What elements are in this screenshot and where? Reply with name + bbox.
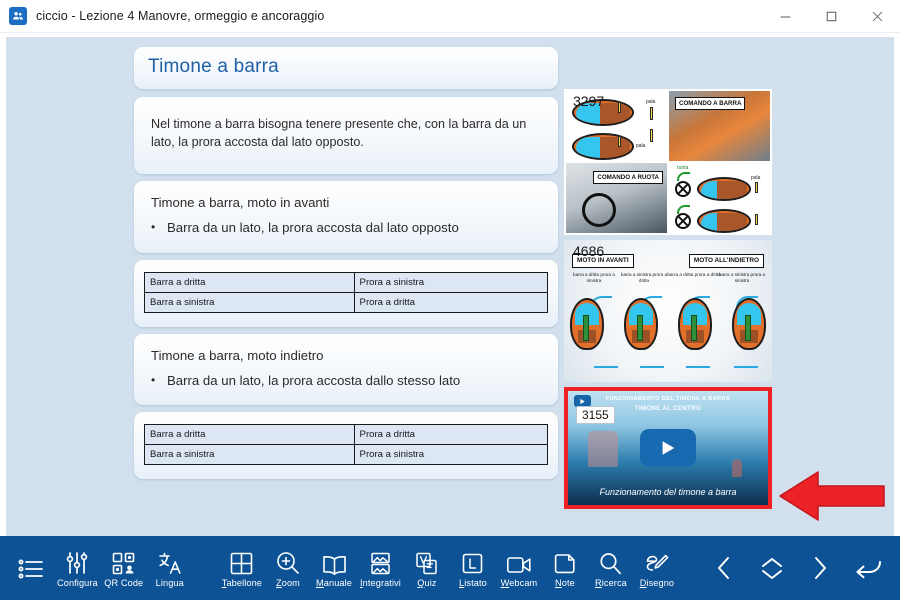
- boat-diagram: [678, 298, 712, 350]
- toolbar-label-accesskey: R: [595, 578, 602, 588]
- table-cell: Barra a sinistra: [145, 292, 355, 312]
- toolbar-label: Manuale: [316, 578, 352, 588]
- toolbar-item-manuale[interactable]: Manuale: [311, 548, 357, 588]
- toolbar-item-tabellone[interactable]: Tabellone: [219, 548, 265, 588]
- wheel-icon: [675, 213, 691, 229]
- photo-comando-a-ruota: COMANDO A RUOTA: [566, 163, 667, 233]
- thumbnail-image-3297[interactable]: pala pala COMANDO A BARRA: [564, 89, 772, 235]
- annotation-pala: pala: [751, 175, 760, 181]
- label-comando-a-barra: COMANDO A BARRA: [675, 97, 745, 110]
- table-cell: Prora a sinistra: [354, 272, 547, 292]
- application-window: ciccio - Lezione 4 Manovre, ormeggio e a…: [0, 0, 900, 600]
- bullet-marker-icon: •: [151, 372, 167, 388]
- video-caption: Funzionamento del timone a barra: [568, 487, 768, 497]
- section-forward-table-card: Barra a dritta Prora a sinistra Barra a …: [134, 260, 558, 327]
- rotation-arrow-icon: [677, 172, 690, 181]
- reverse-table: Barra a dritta Prora a dritta Barra a si…: [144, 424, 548, 465]
- media-thumbnail-column: pala pala COMANDO A BARRA: [564, 89, 772, 509]
- section-forward-heading: Timone a barra, moto in avanti: [146, 195, 546, 210]
- toolbar-label: Tabellone: [222, 578, 262, 588]
- sliders-icon: [65, 548, 89, 575]
- annotation-ruota: ruota: [677, 165, 688, 171]
- toolbar-label: Integrativi: [360, 578, 401, 588]
- photo-comando-a-barra: COMANDO A BARRA: [669, 91, 770, 161]
- label-comando-a-ruota: COMANDO A RUOTA: [593, 171, 663, 184]
- cell-boats-ruota: ruota pala: [669, 163, 770, 233]
- boat-bow: [576, 137, 602, 158]
- section-reverse-card: Timone a barra, moto indietro • Barra da…: [134, 334, 558, 406]
- table-cell: Barra a dritta: [145, 272, 355, 292]
- bullet-marker-icon: •: [151, 219, 167, 235]
- chevron-left-icon: [713, 553, 735, 583]
- nav-back-button[interactable]: [844, 553, 892, 583]
- caption-boat-1: barra a dritta prora a sinistra: [566, 272, 622, 283]
- boat-diagram: [697, 177, 751, 201]
- thumbnail-id-badge: 3155: [576, 406, 615, 424]
- toolbar-label: Lingua: [156, 578, 184, 588]
- table-cell: Barra a sinistra: [145, 445, 355, 465]
- images-icon: [369, 548, 392, 575]
- toolbar-item-integrativi[interactable]: Integrativi: [357, 548, 404, 588]
- boat-stern: [600, 137, 630, 158]
- zoom-in-icon: [276, 548, 300, 575]
- direction-arrow-icon: [686, 366, 710, 368]
- toolbar-label-rest: ebcam: [509, 578, 537, 588]
- close-icon[interactable]: [854, 0, 900, 33]
- listato-icon: [461, 548, 484, 575]
- thumbnail-4686-canvas: MOTO IN AVANTI MOTO ALL'INDIETRO barra a…: [564, 240, 772, 382]
- bottom-toolbar: Configura QR Code: [0, 536, 900, 600]
- list-menu-icon: [18, 553, 44, 580]
- toolbar-label-accesskey: N: [555, 578, 562, 588]
- slide-canvas: Timone a barra Nel timone a barra bisogn…: [6, 37, 894, 536]
- toolbar-label-rest: abellone: [226, 578, 262, 588]
- boat-stern: [717, 213, 747, 233]
- book-icon: [322, 548, 347, 575]
- toolbar-label-rest: uiz: [425, 578, 437, 588]
- direction-arrow-icon: [734, 366, 758, 368]
- table-row: Barra a sinistra Prora a sinistra: [145, 445, 548, 465]
- minimize-icon[interactable]: [762, 0, 808, 33]
- toolbar-item-listato[interactable]: Listato: [450, 548, 496, 588]
- workspace: Timone a barra Nel timone a barra bisogn…: [0, 33, 900, 536]
- toolbar-label: QR Code: [104, 578, 143, 588]
- table-cell: Prora a dritta: [354, 425, 547, 445]
- forward-table: Barra a dritta Prora a sinistra Barra a …: [144, 272, 548, 313]
- toolbar-label-rest: icerca: [602, 578, 627, 588]
- thumbnail-id-badge: 4686: [568, 243, 609, 259]
- caption-boat-2: barra a sinistra prora a dritta: [616, 272, 672, 283]
- quiz-card-icon: [415, 548, 438, 575]
- grid-table-icon: [230, 548, 253, 575]
- annotation-pala: pala: [636, 143, 645, 149]
- users-group-icon: [9, 7, 27, 25]
- pala-marker: [755, 182, 758, 193]
- red-left-arrow: [778, 467, 886, 525]
- toolbar-item-webcam[interactable]: Webcam: [496, 548, 542, 588]
- tiller-marker: [618, 102, 621, 113]
- title-bar: ciccio - Lezione 4 Manovre, ormeggio e a…: [0, 0, 900, 33]
- thumbnail-image-4686[interactable]: MOTO IN AVANTI MOTO ALL'INDIETRO barra a…: [564, 240, 772, 382]
- toolbar-label: Ricerca: [595, 578, 627, 588]
- table-row: Barra a dritta Prora a dritta: [145, 425, 548, 445]
- boat-diagram: [624, 298, 658, 350]
- table-cell: Prora a sinistra: [354, 445, 547, 465]
- toolbar-label-rest: anuale: [324, 578, 352, 588]
- window-controls: [762, 0, 900, 33]
- section-reverse-heading: Timone a barra, moto indietro: [146, 348, 546, 363]
- rudder-marker: [583, 315, 589, 341]
- note-icon: [554, 548, 576, 575]
- tiller-marker: [618, 136, 621, 147]
- section-reverse-bullet: Barra da un lato, la prora accosta dallo…: [167, 372, 460, 390]
- boat-stern: [717, 181, 747, 201]
- thumbnail-3297-grid: pala pala COMANDO A BARRA: [564, 89, 772, 235]
- toolbar-item-disegno[interactable]: Disegno: [634, 548, 680, 588]
- nav-previous-button[interactable]: [700, 553, 748, 583]
- intro-paragraph-card: Nel timone a barra bisogna tenere presen…: [134, 97, 558, 174]
- steering-wheel-photo: [582, 193, 616, 227]
- qr-code-icon: [112, 548, 135, 575]
- boat-diagram: [572, 133, 634, 160]
- boat-silhouette: [732, 459, 742, 477]
- thumbnail-4686-boats: [570, 298, 766, 350]
- chevron-right-icon: [809, 553, 831, 583]
- slide-content-column: Timone a barra Nel timone a barra bisogn…: [134, 47, 558, 486]
- toolbar-label: Configura: [57, 578, 98, 588]
- toolbar-item-zoom[interactable]: Zoom: [265, 548, 311, 588]
- label-moto-all-indietro: MOTO ALL'INDIETRO: [689, 254, 764, 268]
- toolbar-label-rest: ote: [562, 578, 575, 588]
- toolbar-label-rest: ntegrativi: [363, 578, 401, 588]
- pala-marker: [650, 107, 653, 120]
- return-back-icon: [854, 553, 882, 583]
- toolbar-label: Note: [555, 578, 575, 588]
- pala-marker: [650, 129, 653, 142]
- toolbar-item-qr-code[interactable]: QR Code: [101, 548, 147, 588]
- toolbar-label: Zoom: [276, 578, 300, 588]
- wheel-icon: [675, 181, 691, 197]
- thumbnail-id-badge: 3297: [568, 93, 609, 109]
- toolbar-label: Disegno: [640, 578, 674, 588]
- rudder-marker: [637, 315, 643, 341]
- table-row: Barra a sinistra Prora a dritta: [145, 292, 548, 312]
- section-forward-bullet: Barra da un lato, la prora accosta dal l…: [167, 219, 459, 237]
- toolbar-item-lingua[interactable]: Lingua: [147, 548, 193, 588]
- slide-title-card: Timone a barra: [134, 47, 558, 89]
- intro-paragraph: Nel timone a barra bisogna tenere presen…: [146, 107, 546, 164]
- toolbar-label: Listato: [459, 578, 487, 588]
- table-cell: Prora a dritta: [354, 292, 547, 312]
- boat-diagram: [697, 209, 751, 233]
- rudder-marker: [691, 315, 697, 341]
- boat-diagram: [732, 298, 766, 350]
- search-icon: [599, 548, 622, 575]
- section-reverse-table-card: Barra a dritta Prora a dritta Barra a si…: [134, 412, 558, 479]
- webcam-icon: [506, 548, 532, 575]
- boat-silhouette: [588, 431, 618, 467]
- rudder-marker: [745, 315, 751, 341]
- toolbar-item-note[interactable]: Note: [542, 548, 588, 588]
- window-title: ciccio - Lezione 4 Manovre, ormeggio e a…: [36, 9, 324, 23]
- page-title: Timone a barra: [148, 56, 544, 78]
- toolbar-label-rest: istato: [464, 578, 487, 588]
- toolbar-label: Webcam: [501, 578, 538, 588]
- toolbar-item-menu[interactable]: [8, 553, 54, 583]
- maximize-icon[interactable]: [808, 0, 854, 33]
- section-reverse-bullet-row: • Barra da un lato, la prora accosta dal…: [146, 372, 546, 390]
- toolbar-label-accesskey: M: [316, 578, 324, 588]
- section-forward-card: Timone a barra, moto in avanti • Barra d…: [134, 181, 558, 253]
- pen-draw-icon: [645, 548, 669, 575]
- chevron-up-down-icon: [759, 553, 785, 583]
- nav-updown-button[interactable]: [748, 553, 796, 583]
- toolbar-label: Quiz: [417, 578, 436, 588]
- section-forward-bullet-row: • Barra da un lato, la prora accosta dal…: [146, 219, 546, 237]
- toolbar-item-ricerca[interactable]: Ricerca: [588, 548, 634, 588]
- caption-boat-4: barra a sinistra prora a sinistra: [714, 272, 770, 283]
- toolbar-item-configura[interactable]: Configura: [54, 548, 101, 588]
- play-button-icon[interactable]: [640, 429, 696, 467]
- toolbar-item-quiz[interactable]: Quiz: [404, 548, 450, 588]
- annotation-pala: pala: [646, 99, 655, 105]
- direction-arrow-icon: [594, 366, 618, 368]
- boat-diagram: [570, 298, 604, 350]
- video-overline: FUNZIONAMENTO DEL TIMONE A BARRA: [568, 396, 768, 402]
- table-cell: Barra a dritta: [145, 425, 355, 445]
- toolbar-label-rest: isegno: [646, 578, 674, 588]
- table-row: Barra a dritta Prora a sinistra: [145, 272, 548, 292]
- thumbnail-video-3155[interactable]: FUNZIONAMENTO DEL TIMONE A BARRA TIMONE …: [564, 387, 772, 509]
- nav-next-button[interactable]: [796, 553, 844, 583]
- toolbar-label-rest: oom: [282, 578, 300, 588]
- translate-icon: [158, 548, 182, 575]
- pala-marker: [755, 214, 758, 225]
- direction-arrow-icon: [640, 366, 664, 368]
- toolbar-label-accesskey: Q: [417, 578, 424, 588]
- toolbar-label-accesskey: W: [501, 578, 510, 588]
